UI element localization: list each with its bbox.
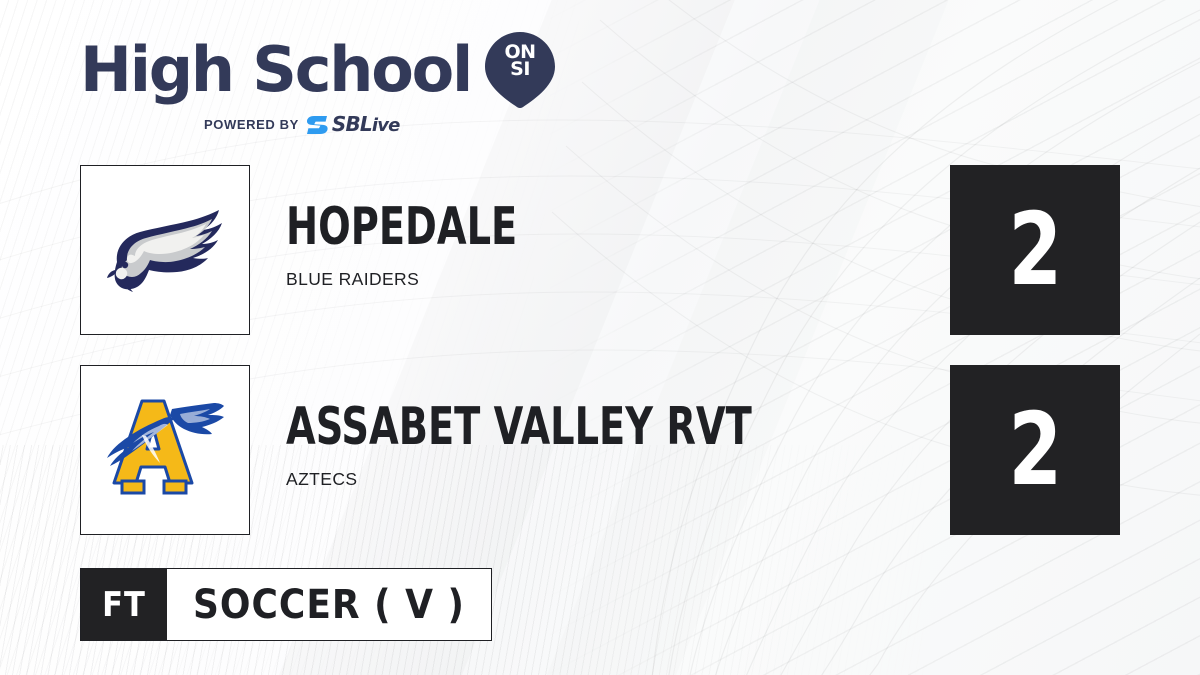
team-score-box: 2 (950, 365, 1120, 535)
team-row: ASSABET VALLEY RVT AZTECS 2 (80, 365, 1120, 535)
status-sport-label: SOCCER ( V ) (167, 569, 491, 640)
sblive-logo: SBLive (307, 114, 400, 135)
team-text-block: HOPEDALE BLUE RAIDERS (286, 199, 568, 290)
eagle-head-icon (105, 198, 225, 302)
sblive-word-tail: ive (372, 115, 400, 136)
team-mascot: AZTECS (286, 469, 854, 490)
team-name: HOPEDALE (286, 199, 517, 255)
team-score-box: 2 (950, 165, 1120, 335)
team-name: ASSABET VALLEY RVT (286, 399, 752, 455)
powered-by-label: POWERED BY (204, 117, 299, 132)
letter-a-feather-icon (102, 397, 228, 503)
team-score: 2 (1008, 400, 1062, 500)
brand-wordmark: High School ON SI (80, 32, 550, 108)
team-score: 2 (1008, 200, 1062, 300)
team-row: HOPEDALE BLUE RAIDERS 2 (80, 165, 1120, 335)
powered-by-row: POWERED BY SBLive (204, 114, 550, 135)
team-text-block: ASSABET VALLEY RVT AZTECS (286, 399, 854, 490)
status-period-badge: FT (81, 569, 167, 640)
brand-title: High School (80, 41, 471, 100)
team-mascot: BLUE RAIDERS (286, 269, 568, 290)
pin-line-si: SI (485, 61, 555, 78)
team-logo-box (80, 365, 250, 535)
sblive-word-main: SBL (332, 112, 372, 136)
on-si-pin-icon: ON SI (485, 32, 555, 108)
sblive-s-mark-icon (307, 116, 329, 134)
game-status-bar: FT SOCCER ( V ) (80, 568, 492, 641)
brand-header: High School ON SI POWERED BY SBLive (80, 32, 550, 137)
team-logo-box (80, 165, 250, 335)
scoreboard-graphic: High School ON SI POWERED BY SBLive (0, 0, 1200, 675)
on-si-pin-text: ON SI (485, 44, 555, 78)
sblive-wordmark: SBLive (332, 114, 400, 135)
